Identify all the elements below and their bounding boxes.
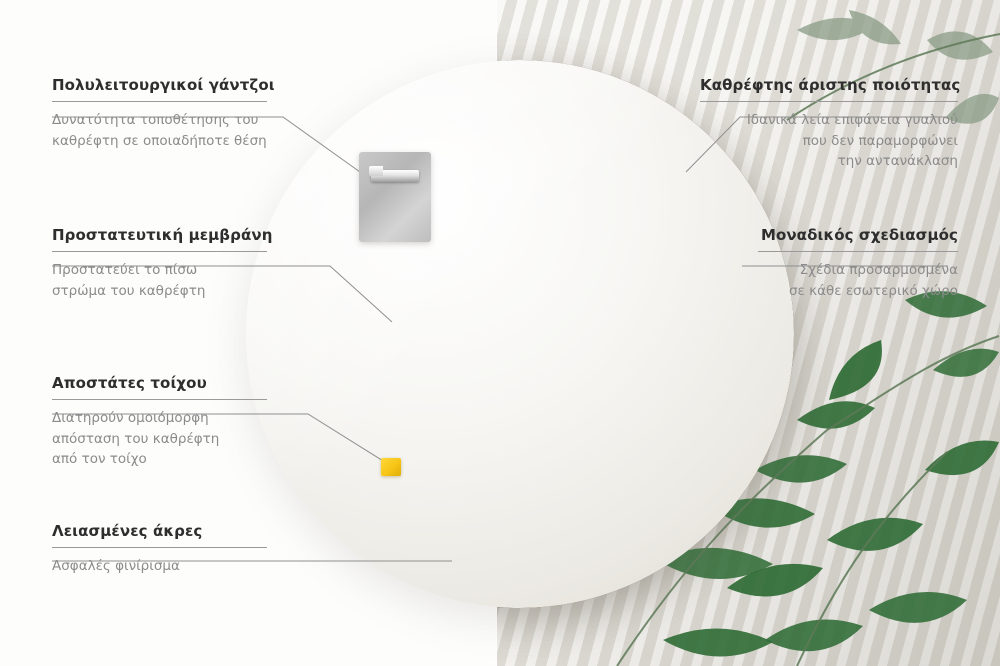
callout-protective-membrane: Προστατευτική μεμβράνη Προστατεύει το πί… bbox=[52, 226, 267, 301]
hook-icon bbox=[371, 170, 419, 182]
callout-title: Μοναδικός σχεδιασμός bbox=[758, 226, 958, 244]
callout-rule bbox=[52, 251, 267, 252]
callout-title: Καθρέφτης άριστης ποιότητας bbox=[700, 76, 958, 94]
callout-desc: Ασφαλές φινίρισμα bbox=[52, 556, 267, 577]
callout-rule bbox=[52, 399, 267, 400]
callout-unique-design: Μοναδικός σχεδιασμός Σχέδια προσαρμοσμέν… bbox=[758, 226, 958, 301]
callout-rule bbox=[52, 101, 267, 102]
spacer-detail-swatch bbox=[381, 458, 401, 476]
callout-title: Λειασμένες άκρες bbox=[52, 522, 267, 540]
infographic-stage: Πολυλειτουργικοί γάντζοι Δυνατότητα τοπο… bbox=[0, 0, 1000, 666]
callout-hooks: Πολυλειτουργικοί γάντζοι Δυνατότητα τοπο… bbox=[52, 76, 267, 151]
callout-title: Προστατευτική μεμβράνη bbox=[52, 226, 267, 244]
callout-desc: Σχέδια προσαρμοσμένα σε κάθε εσωτερικό χ… bbox=[758, 260, 958, 301]
callout-title: Πολυλειτουργικοί γάντζοι bbox=[52, 76, 267, 94]
callout-smoothed-edges: Λειασμένες άκρες Ασφαλές φινίρισμα bbox=[52, 522, 267, 577]
callout-rule bbox=[700, 101, 958, 102]
callout-desc: Προστατεύει το πίσω στρώμα του καθρέφτη bbox=[52, 260, 267, 301]
callout-desc: Δυνατότητα τοποθέτησης του καθρέφτη σε ο… bbox=[52, 110, 267, 151]
callout-rule bbox=[52, 547, 267, 548]
callout-desc: Διατηρούν ομοιόμορφη απόσταση του καθρέφ… bbox=[52, 408, 267, 470]
callout-wall-spacers: Αποστάτες τοίχου Διατηρούν ομοιόμορφη απ… bbox=[52, 374, 267, 470]
callout-title: Αποστάτες τοίχου bbox=[52, 374, 267, 392]
callout-top-quality-mirror: Καθρέφτης άριστης ποιότητας Ιδανικά λεία… bbox=[700, 76, 958, 172]
callout-desc: Ιδανικά λεία επιφάνεια γυαλιού που δεν π… bbox=[700, 110, 958, 172]
callout-rule bbox=[758, 251, 958, 252]
hook-detail-swatch bbox=[359, 152, 431, 242]
